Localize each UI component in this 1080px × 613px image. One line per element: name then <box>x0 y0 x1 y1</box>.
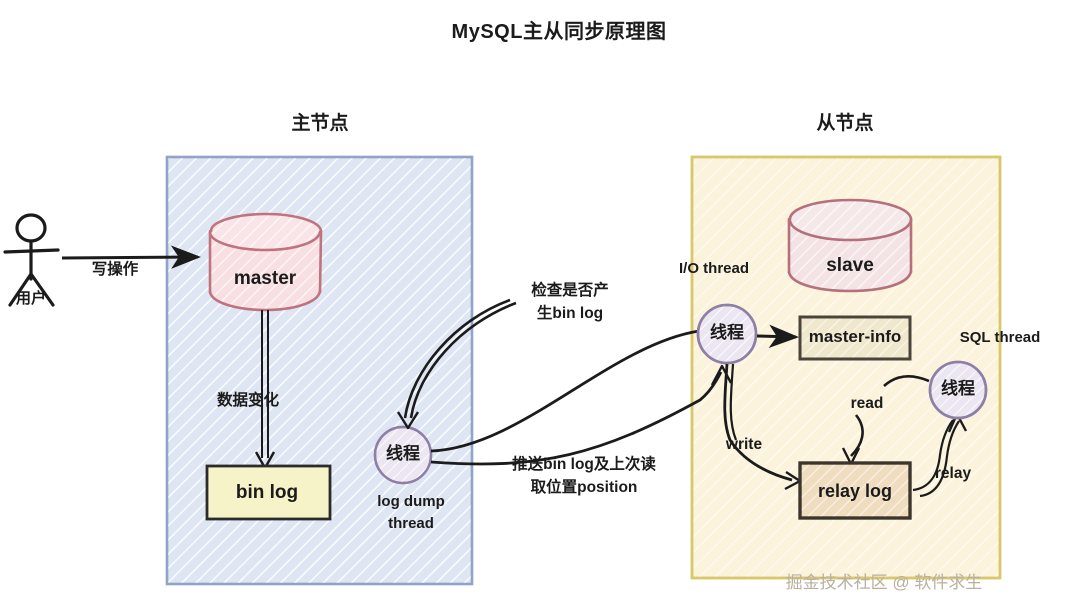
check-binlog-label-2: 生bin log <box>537 305 603 324</box>
sql-thread-caption: SQL thread <box>960 329 1041 347</box>
watermark-text: 掘金技术社区 @ 软件求生 <box>786 573 983 594</box>
check-binlog-label-1: 检查是否产 <box>531 282 609 301</box>
push-binlog-label-2: 取位置position <box>531 479 638 498</box>
log-dump-thread-label: 线程 <box>386 444 420 465</box>
slave-panel-title: 从节点 <box>816 112 873 135</box>
relay-log-label: relay log <box>818 481 892 503</box>
data-change-label: 数据变化 <box>217 392 279 411</box>
iothread-to-masterinfo-arrow <box>757 336 796 337</box>
master-db-label: master <box>234 267 296 290</box>
read-label: read <box>851 395 884 414</box>
write-label: write <box>726 436 762 455</box>
io-thread-caption: I/O thread <box>679 260 749 278</box>
io-thread-label: 线程 <box>710 323 744 344</box>
slave-database-cylinder <box>789 200 911 291</box>
write-operation-label: 写操作 <box>92 261 139 280</box>
master-info-label: master-info <box>809 327 902 348</box>
master-database-cylinder <box>210 214 321 311</box>
bin-log-label: bin log <box>236 481 298 504</box>
log-dump-thread-caption-1: log dump <box>377 493 445 511</box>
push-binlog-label-1: 推送bin log及上次读 <box>512 456 656 475</box>
slave-db-label: slave <box>826 254 874 277</box>
page-title: MySQL主从同步原理图 <box>452 20 667 44</box>
diagram-canvas: MySQL主从同步原理图 主节点 从节点 用户 写操作 master 数据变化 … <box>0 0 1080 613</box>
sql-thread-label: 线程 <box>941 379 975 400</box>
push-binlog-flow-arrow <box>431 366 731 464</box>
log-dump-thread-caption-2: thread <box>388 515 434 533</box>
user-label: 用户 <box>16 290 46 308</box>
write-operation-arrow <box>62 257 198 258</box>
relay-label: relay <box>935 465 971 484</box>
master-panel-title: 主节点 <box>291 112 348 135</box>
